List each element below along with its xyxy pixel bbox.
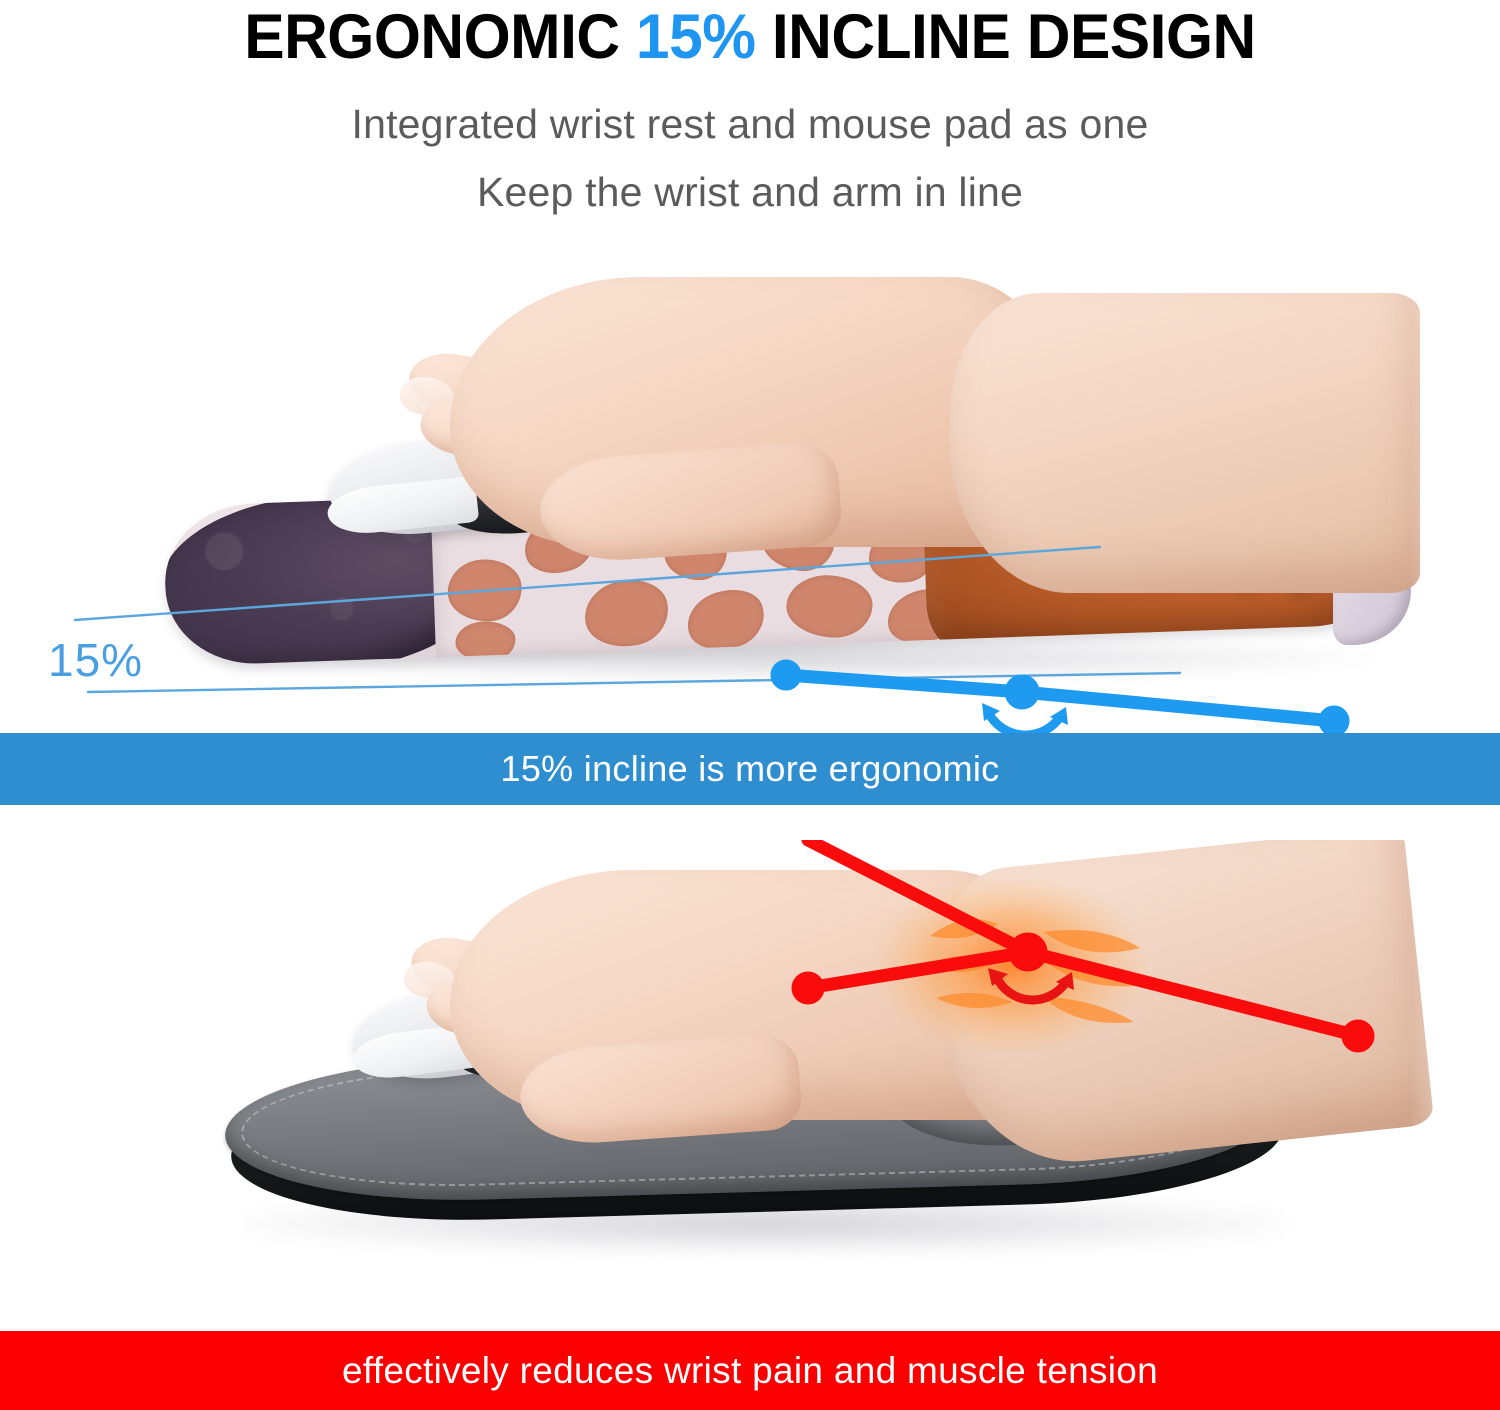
incline-angle-label: 15%: [48, 633, 143, 687]
red-caption-text: effectively reduces wrist pain and muscl…: [342, 1350, 1158, 1392]
title-highlight-15-percent: 15%: [636, 2, 756, 72]
top-product-photo: 15%: [0, 255, 1500, 733]
hand-top: [390, 255, 1400, 585]
page-title: ERGONOMIC 15% INCLINE DESIGN: [30, 2, 1470, 72]
subtitle-line-2: Keep the wrist and arm in line: [0, 168, 1500, 216]
red-caption-banner: effectively reduces wrist pain and muscl…: [0, 1331, 1500, 1410]
bottom-product-photo: [0, 840, 1500, 1331]
title-text-before: ERGONOMIC: [244, 2, 636, 72]
subtitle-line-1: Integrated wrist rest and mouse pad as o…: [0, 100, 1500, 148]
right-fade: [1410, 255, 1500, 733]
rotation-double-arrow-icon: [988, 712, 1060, 733]
right-fade: [1410, 840, 1500, 1331]
title-text-after: INCLINE DESIGN: [756, 2, 1256, 72]
blue-caption-banner: 15% incline is more ergonomic: [0, 733, 1500, 805]
forearm: [926, 840, 1435, 1174]
forearm: [950, 293, 1420, 593]
infographic-page: ERGONOMIC 15% INCLINE DESIGN Integrated …: [0, 0, 1500, 1410]
hand-bottom: [400, 840, 1410, 1160]
header: ERGONOMIC 15% INCLINE DESIGN Integrated …: [0, 0, 1500, 240]
rotation-arrowheads: [982, 703, 1068, 725]
line-endpoint-right: [1319, 706, 1349, 733]
blue-caption-text: 15% incline is more ergonomic: [501, 748, 1000, 790]
